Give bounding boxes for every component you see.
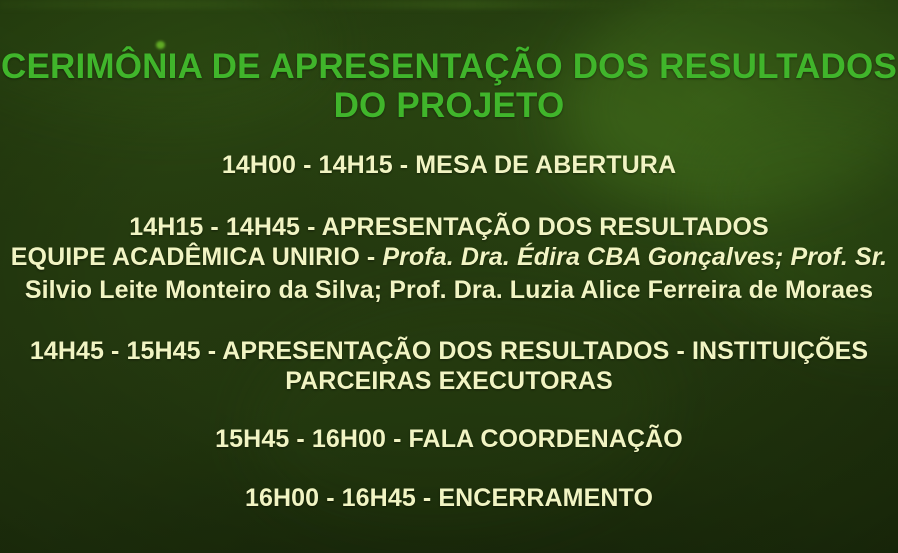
schedule-item-equipe-line-2: Silvio Leite Monteiro da Silva; Prof. Dr… xyxy=(0,275,898,305)
schedule-item-equipe-line-1: EQUIPE ACADÊMICA UNIRIO - Profa. Dra. Éd… xyxy=(0,242,898,272)
schedule-item-instituicoes-line-2: PARCEIRAS EXECUTORAS xyxy=(0,366,898,396)
schedule-item-coordenacao: 15H45 - 16H00 - FALA COORDENAÇÃO xyxy=(0,424,898,454)
equipe-label: EQUIPE ACADÊMICA UNIRIO - xyxy=(11,243,383,271)
poster-content: CERIMÔNIA DE APRESENTAÇÃO DOS RESULTADOS… xyxy=(0,0,898,553)
schedule-item-encerramento: 16H00 - 16H45 - ENCERRAMENTO xyxy=(0,483,898,513)
event-schedule-poster: CERIMÔNIA DE APRESENTAÇÃO DOS RESULTADOS… xyxy=(0,0,898,553)
page-title-line-1: CERIMÔNIA DE APRESENTAÇÃO DOS RESULTADOS xyxy=(0,47,898,86)
equipe-names-part-1: Profa. Dra. Édira CBA Gonçalves; Prof. S… xyxy=(382,243,887,271)
schedule-item-resultados-header: 14H15 - 14H45 - APRESENTAÇÃO DOS RESULTA… xyxy=(0,212,898,242)
page-title-line-2: DO PROJETO xyxy=(0,86,898,125)
schedule-item-abertura: 14H00 - 14H15 - MESA DE ABERTURA xyxy=(0,150,898,180)
schedule-item-instituicoes-line-1: 14H45 - 15H45 - APRESENTAÇÃO DOS RESULTA… xyxy=(0,336,898,366)
